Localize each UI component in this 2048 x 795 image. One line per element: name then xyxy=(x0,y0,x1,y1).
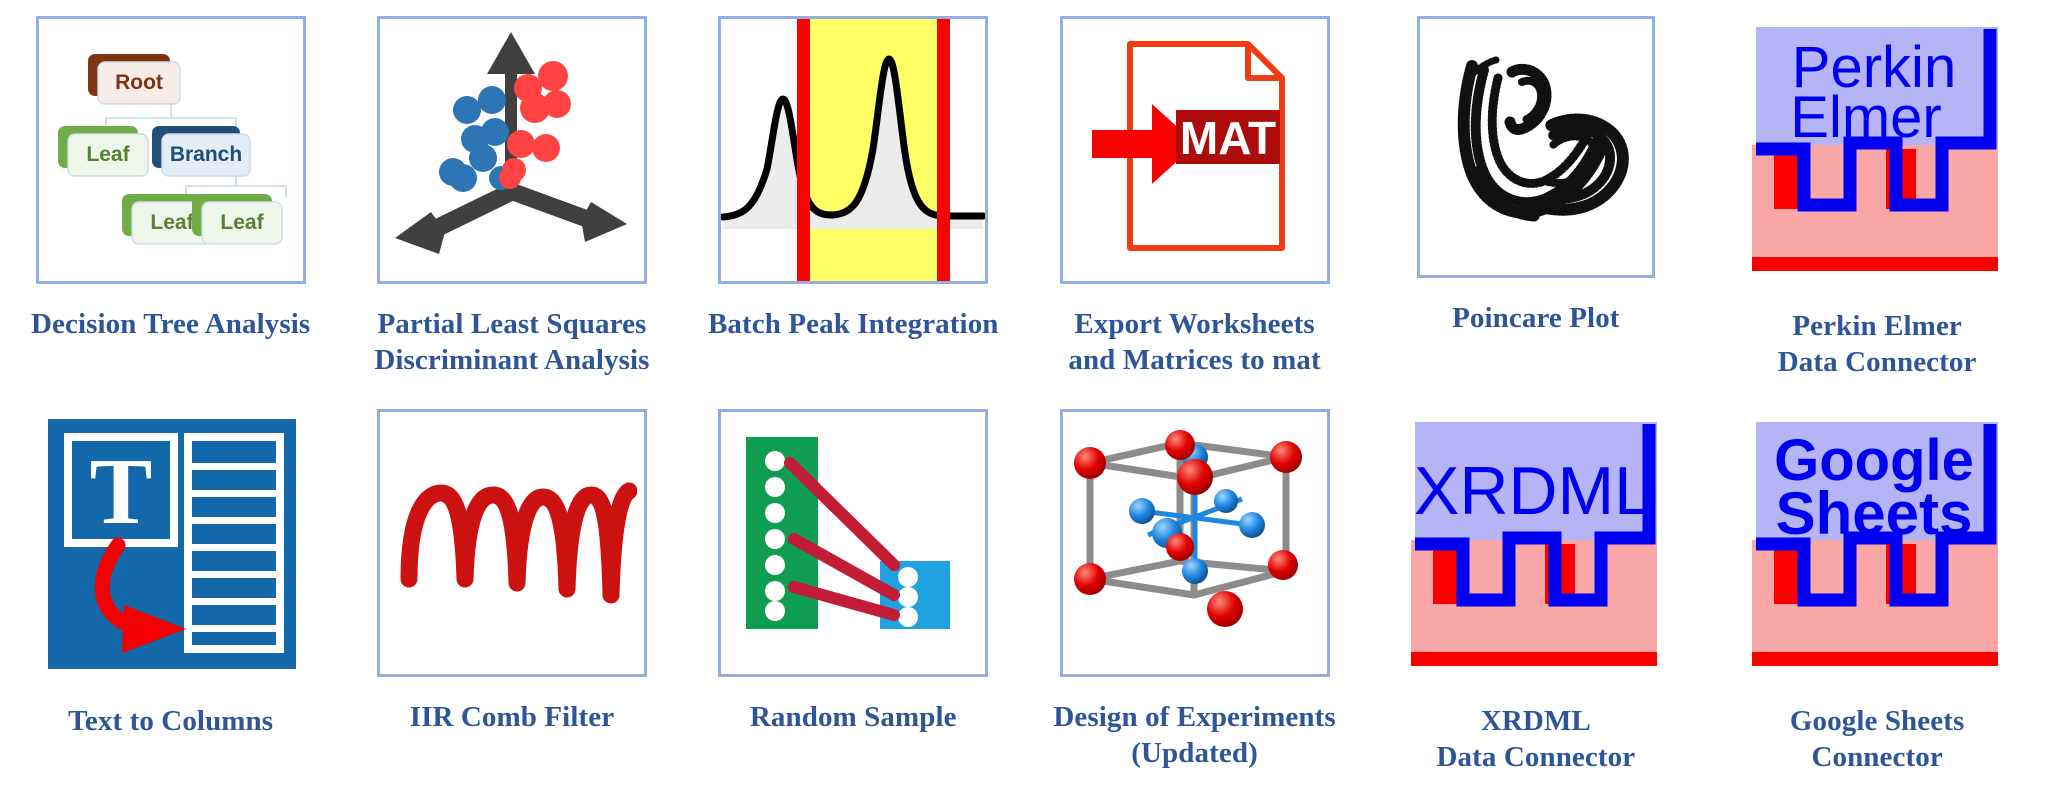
tree-node-label-branch: Branch xyxy=(169,143,241,166)
caption-line: Discriminant Analysis xyxy=(374,342,649,378)
tree-node-label-leaf-1: Leaf xyxy=(86,143,130,166)
caption-line: Google Sheets xyxy=(1790,703,1964,739)
scatter-3d-axes-icon xyxy=(387,26,637,274)
data-connector-icon: XRDML xyxy=(1405,414,1667,676)
app-gallery-grid: Root Leaf Branch Leaf xyxy=(0,0,2048,795)
caption-line: Batch Peak Integration xyxy=(708,306,999,342)
mat-badge-label: MAT xyxy=(1179,112,1275,164)
caption-export-worksheets-and-matrices-to-mat: Export Worksheets and Matrices to mat xyxy=(1068,306,1320,378)
thumbnail-poincare-plot[interactable] xyxy=(1417,16,1655,278)
caption-text-to-columns: Text to Columns xyxy=(68,703,273,739)
caption-line: Design of Experiments xyxy=(1053,699,1335,735)
text-glyph-T: T xyxy=(89,440,152,544)
thumbnail-batch-peak-integration[interactable] xyxy=(718,16,988,284)
thumbnail-random-sample[interactable] xyxy=(718,409,988,677)
thumbnail-partial-least-squares-discriminant-analysis[interactable] xyxy=(377,16,647,284)
poincare-attractor-icon xyxy=(1426,22,1646,272)
caption-xrdml-data-connector: XRDML Data Connector xyxy=(1436,703,1635,775)
caption-decision-tree-analysis: Decision Tree Analysis xyxy=(31,306,310,342)
caption-line: XRDML xyxy=(1436,703,1635,739)
gallery-item-iir-comb-filter[interactable]: IIR Comb Filter xyxy=(341,391,682,795)
caption-line: Perkin Elmer xyxy=(1778,308,1977,344)
random-sample-icon xyxy=(728,419,978,667)
caption-design-of-experiments-updated: Design of Experiments (Updated) xyxy=(1053,699,1335,771)
mat-file-export-icon: MAT xyxy=(1070,26,1320,274)
caption-line: (Updated) xyxy=(1053,735,1335,771)
caption-batch-peak-integration: Batch Peak Integration xyxy=(708,306,999,342)
caption-line: Export Worksheets xyxy=(1068,306,1320,342)
connector-label-line-2: Elmer xyxy=(1790,85,1941,150)
thumbnail-perkin-elmer-data-connector[interactable]: Perkin Elmer xyxy=(1739,14,2015,286)
caption-line: Random Sample xyxy=(750,699,957,735)
gallery-item-perkin-elmer-data-connector[interactable]: Perkin Elmer Perkin Elmer Data Connector xyxy=(1706,0,2047,391)
gallery-item-export-worksheets-and-matrices-to-mat[interactable]: MAT Export Worksheets and Matrices to ma… xyxy=(1024,0,1365,391)
caption-line: Text to Columns xyxy=(68,703,273,739)
caption-line: Partial Least Squares xyxy=(374,306,649,342)
gallery-item-text-to-columns[interactable]: T Text to Columns xyxy=(0,391,341,795)
gallery-item-xrdml-data-connector[interactable]: XRDML XRDML Data Connector xyxy=(1365,391,1706,795)
comb-filter-wave-icon xyxy=(387,419,637,667)
caption-line: and Matrices to mat xyxy=(1068,342,1320,378)
caption-google-sheets-connector: Google Sheets Connector xyxy=(1790,703,1964,775)
gallery-item-batch-peak-integration[interactable]: Batch Peak Integration xyxy=(683,0,1024,391)
text-to-columns-icon: T xyxy=(40,415,302,675)
gallery-item-partial-least-squares-discriminant-analysis[interactable]: Partial Least Squares Discriminant Analy… xyxy=(341,0,682,391)
peak-integration-icon xyxy=(721,19,985,281)
gallery-item-random-sample[interactable]: Random Sample xyxy=(683,391,1024,795)
caption-line: Data Connector xyxy=(1778,344,1977,380)
thumbnail-text-to-columns[interactable]: T xyxy=(33,409,309,681)
thumbnail-google-sheets-connector[interactable]: Google Sheets xyxy=(1739,409,2015,681)
connector-label-line-2: Sheets xyxy=(1776,480,1973,547)
tree-node-label-root: Root xyxy=(115,71,163,94)
decision-tree-icon: Root Leaf Branch Leaf xyxy=(46,26,296,274)
thumbnail-design-of-experiments-updated[interactable] xyxy=(1060,409,1330,677)
gallery-item-design-of-experiments-updated[interactable]: Design of Experiments (Updated) xyxy=(1024,391,1365,795)
caption-iir-comb-filter: IIR Comb Filter xyxy=(410,699,614,735)
integration-marker-right xyxy=(937,19,950,281)
doe-cube-icon xyxy=(1070,419,1320,667)
thumbnail-xrdml-data-connector[interactable]: XRDML xyxy=(1398,409,1674,681)
caption-perkin-elmer-data-connector: Perkin Elmer Data Connector xyxy=(1778,308,1977,380)
gallery-item-decision-tree-analysis[interactable]: Root Leaf Branch Leaf xyxy=(0,0,341,391)
thumbnail-export-worksheets-and-matrices-to-mat[interactable]: MAT xyxy=(1060,16,1330,284)
caption-partial-least-squares-discriminant-analysis: Partial Least Squares Discriminant Analy… xyxy=(374,306,649,378)
tree-node-label-leaf-3: Leaf xyxy=(220,211,264,234)
thumbnail-decision-tree-analysis[interactable]: Root Leaf Branch Leaf xyxy=(36,16,306,284)
caption-line: Connector xyxy=(1790,739,1964,775)
tree-node-label-leaf-2: Leaf xyxy=(150,211,194,234)
caption-random-sample: Random Sample xyxy=(750,699,957,735)
caption-line: Data Connector xyxy=(1436,739,1635,775)
data-connector-icon: Google Sheets xyxy=(1746,414,2008,676)
thumbnail-iir-comb-filter[interactable] xyxy=(377,409,647,677)
caption-poincare-plot: Poincare Plot xyxy=(1452,300,1619,336)
gallery-item-poincare-plot[interactable]: Poincare Plot xyxy=(1365,0,1706,391)
connector-label-line-1: XRDML xyxy=(1414,453,1652,529)
caption-line: Poincare Plot xyxy=(1452,300,1619,336)
data-connector-icon: Perkin Elmer xyxy=(1746,19,2008,281)
caption-line: Decision Tree Analysis xyxy=(31,306,310,342)
caption-line: IIR Comb Filter xyxy=(410,699,614,735)
gallery-item-google-sheets-connector[interactable]: Google Sheets Google Sheets Connector xyxy=(1706,391,2047,795)
integration-marker-left xyxy=(797,19,810,281)
